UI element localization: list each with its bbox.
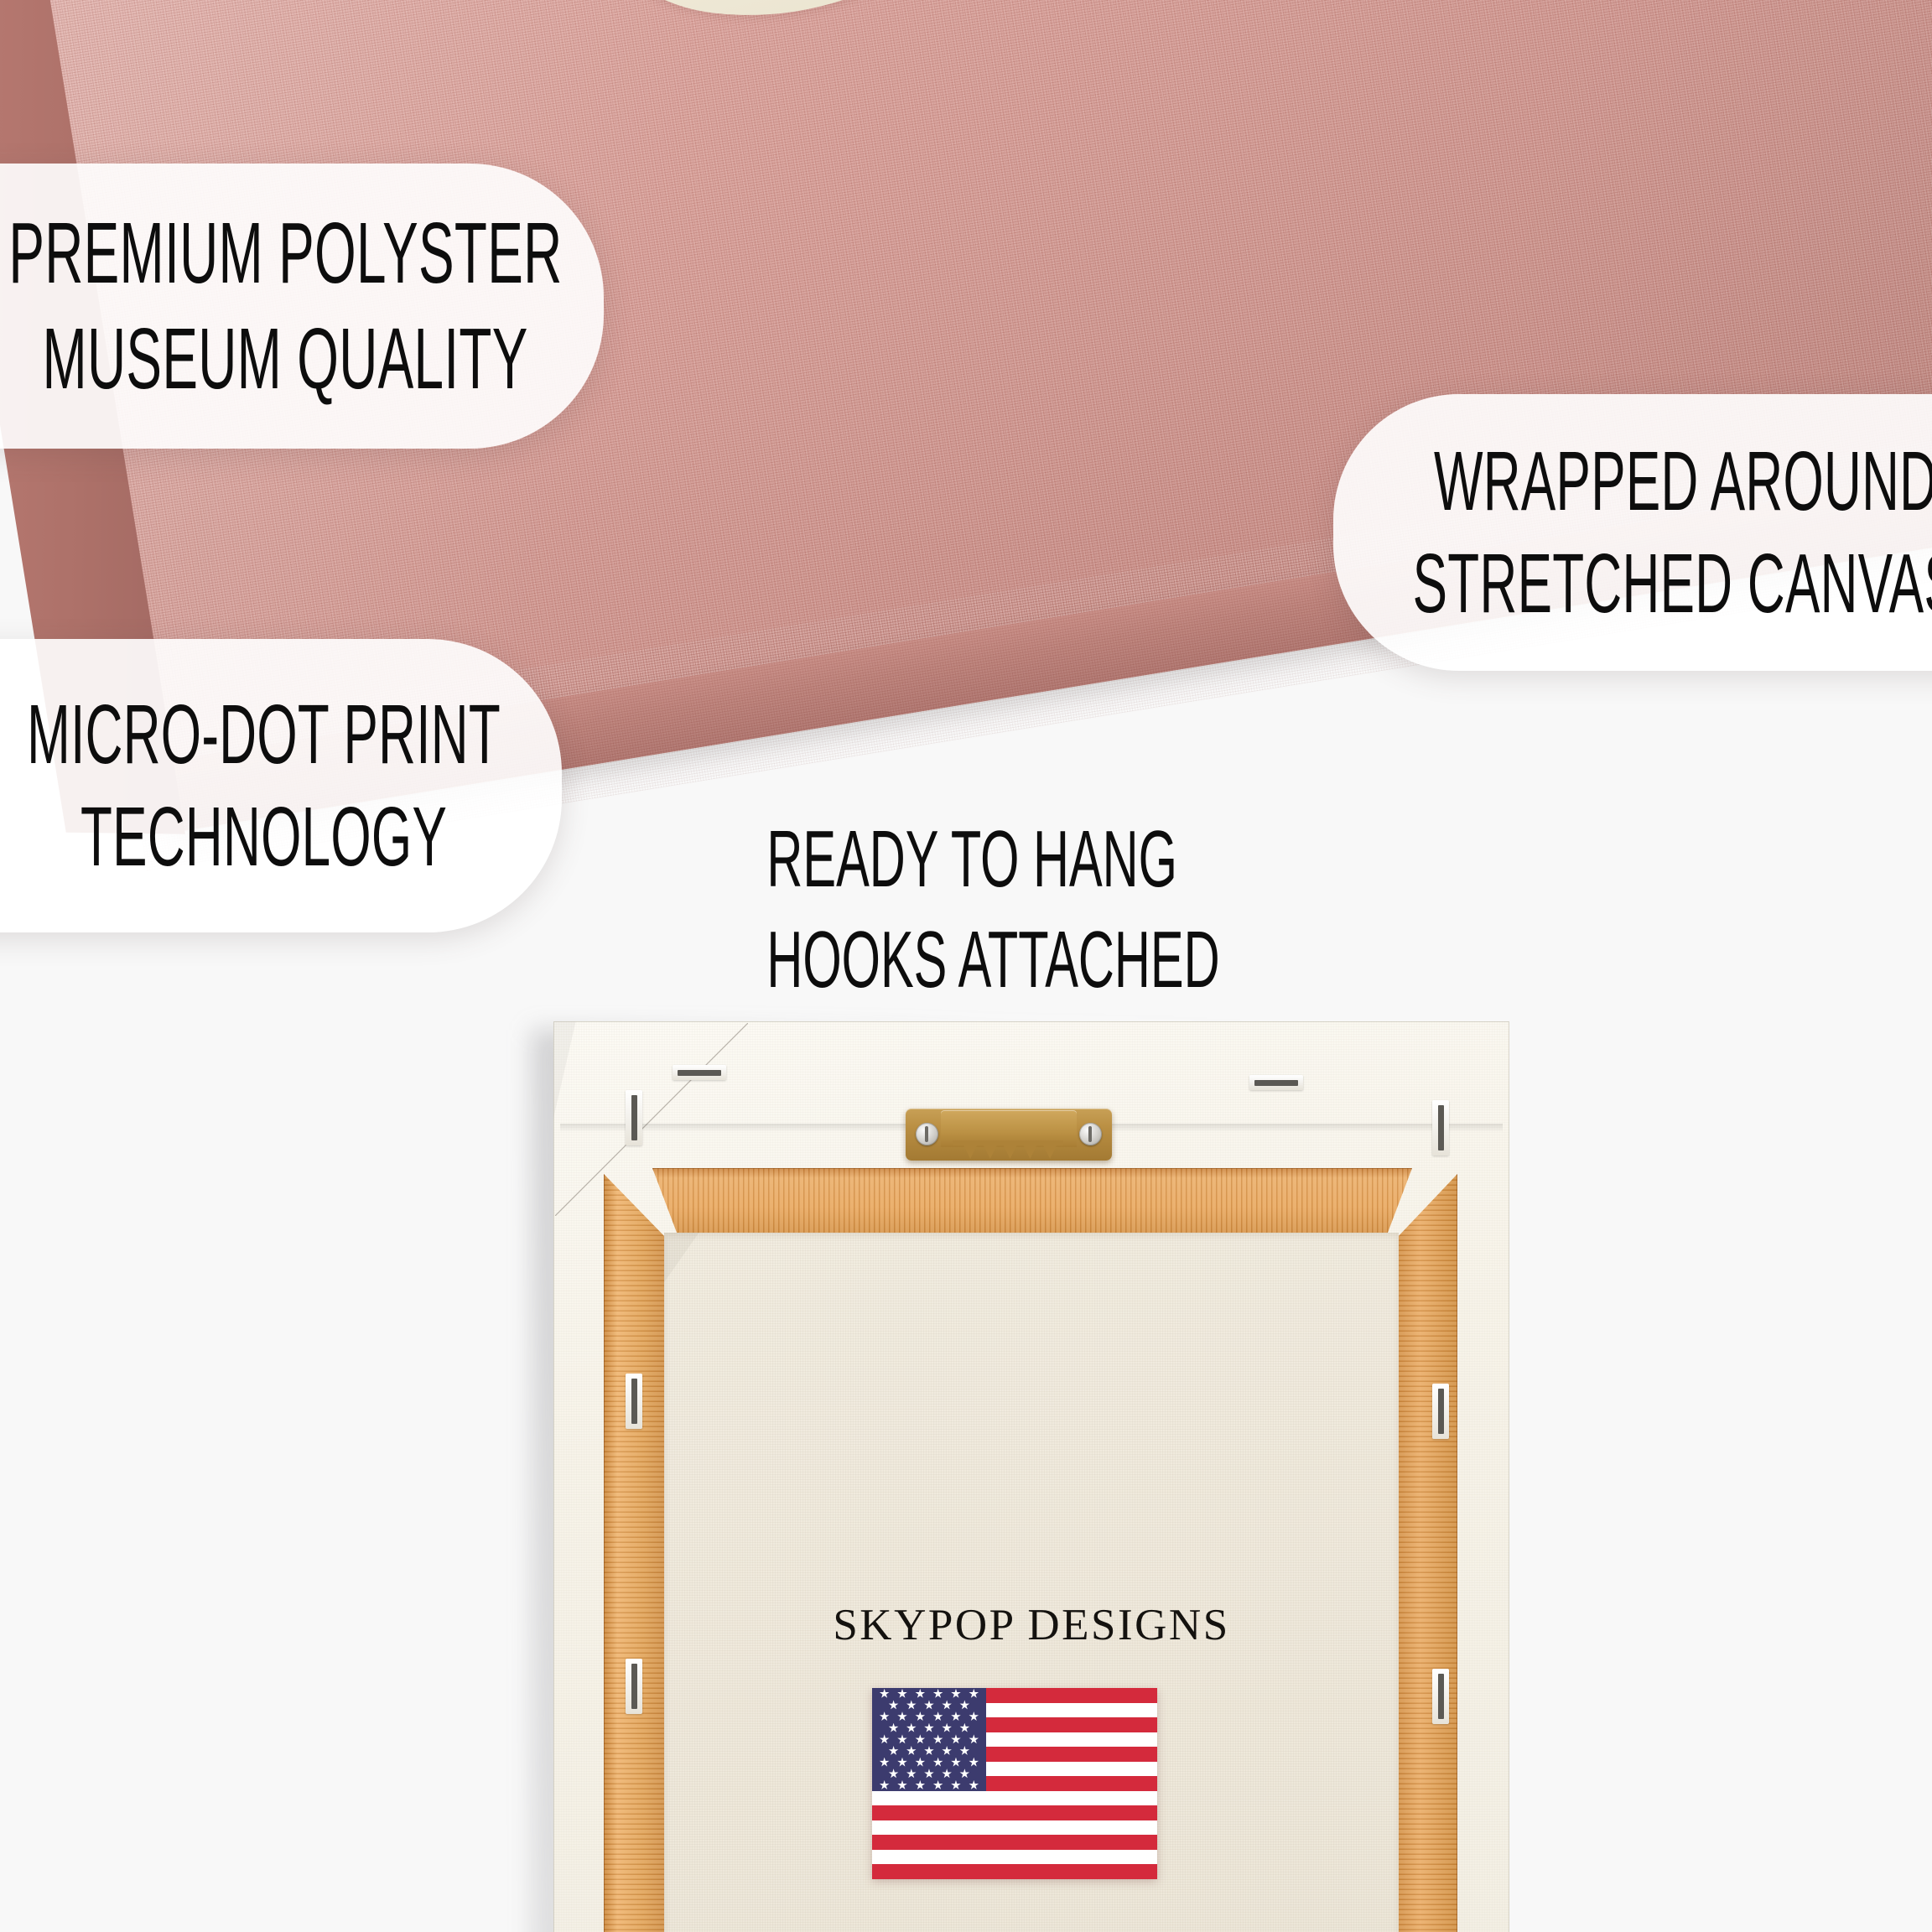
ready-to-hang-heading: READY TO HANG HOOKS ATTACHED xyxy=(646,809,1283,1010)
flag-star-row xyxy=(872,1711,986,1722)
flag-star xyxy=(942,1700,952,1710)
flag-star xyxy=(933,1711,943,1722)
flag-star xyxy=(933,1734,943,1744)
hanger-screw-right xyxy=(1079,1123,1102,1145)
flag-stripe xyxy=(872,1864,1157,1879)
flag-star xyxy=(906,1723,917,1733)
wood-stretcher-bar-top xyxy=(652,1168,1412,1239)
cream-petal-shape xyxy=(1247,0,1831,29)
flag-star xyxy=(897,1758,907,1768)
flag-star xyxy=(959,1768,969,1779)
flag-star xyxy=(897,1780,907,1790)
flag-star xyxy=(951,1780,961,1790)
flag-star-row xyxy=(872,1758,986,1768)
flag-star xyxy=(969,1711,979,1722)
flag-star xyxy=(969,1734,979,1744)
flag-star-row xyxy=(872,1780,986,1790)
sawtooth-hanger xyxy=(906,1109,1112,1161)
staple-top-left xyxy=(673,1065,726,1080)
flag-stripe xyxy=(872,1820,1157,1836)
flag-star xyxy=(889,1768,899,1779)
staple-right-1 xyxy=(1432,1100,1449,1156)
flag-star xyxy=(915,1689,925,1699)
flag-star xyxy=(933,1689,943,1699)
flag-star xyxy=(942,1746,952,1756)
flag-star-row xyxy=(872,1700,986,1710)
badge-line-1: PREMIUM POLYSTER xyxy=(8,200,562,306)
flag-star xyxy=(924,1723,934,1733)
wood-stretcher-bar-left xyxy=(604,1174,666,1932)
hanger-screw-left xyxy=(916,1123,938,1145)
heading-line-1: READY TO HANG xyxy=(766,809,1161,910)
badge-line-2: TECHNOLOGY xyxy=(80,786,447,888)
flag-stripe xyxy=(872,1805,1157,1820)
flag-star xyxy=(915,1711,925,1722)
badge-line-2: STRETCHED CANVAS xyxy=(1412,532,1932,635)
flag-star xyxy=(933,1758,943,1768)
flag-star xyxy=(969,1780,979,1790)
product-infographic: PREMIUM POLYSTER MUSEUM QUALITY MICRO-DO… xyxy=(0,0,1932,1932)
badge-line-1: MICRO-DOT PRINT xyxy=(28,683,501,786)
flag-star xyxy=(951,1758,961,1768)
staple-left-3 xyxy=(626,1659,642,1714)
badge-line-1: WRAPPED AROUND xyxy=(1434,430,1932,532)
flag-star-row xyxy=(872,1746,986,1756)
united-states-flag xyxy=(872,1688,1157,1879)
flag-star xyxy=(906,1768,917,1779)
flag-stripe xyxy=(872,1791,1157,1806)
flag-star xyxy=(915,1734,925,1744)
flag-star-row xyxy=(872,1689,986,1699)
flag-star xyxy=(897,1711,907,1722)
flag-star-row xyxy=(872,1768,986,1779)
flag-star xyxy=(951,1734,961,1744)
flag-star xyxy=(897,1689,907,1699)
flag-star xyxy=(951,1711,961,1722)
flag-star xyxy=(915,1780,925,1790)
flag-star xyxy=(933,1780,943,1790)
flag-star-row xyxy=(872,1723,986,1733)
flag-star xyxy=(924,1746,934,1756)
feature-badge-wrapped-around: WRAPPED AROUND STRETCHED CANVAS xyxy=(1333,394,1932,671)
wood-stretcher-bar-right xyxy=(1397,1174,1457,1932)
flag-star xyxy=(959,1746,969,1756)
canvas-back-view: SKYPOP DESIGNS xyxy=(553,1021,1509,1932)
staple-left-2 xyxy=(626,1374,642,1429)
flag-star xyxy=(880,1758,890,1768)
flag-star xyxy=(924,1700,934,1710)
flag-star xyxy=(959,1700,969,1710)
flag-star xyxy=(969,1689,979,1699)
flag-star xyxy=(942,1723,952,1733)
flag-star xyxy=(924,1768,934,1779)
badge-line-2: MUSEUM QUALITY xyxy=(42,306,527,412)
flag-canton xyxy=(872,1688,986,1791)
staple-right-2 xyxy=(1432,1384,1449,1439)
flag-star xyxy=(906,1746,917,1756)
feature-badge-premium-polyster: PREMIUM POLYSTER MUSEUM QUALITY xyxy=(0,164,604,449)
flag-star xyxy=(897,1734,907,1744)
flag-star xyxy=(880,1711,890,1722)
flag-stripe xyxy=(872,1835,1157,1850)
brand-name: SKYPOP DESIGNS xyxy=(553,1600,1509,1650)
flag-star xyxy=(880,1734,890,1744)
flag-star xyxy=(889,1746,899,1756)
staple-right-3 xyxy=(1432,1669,1449,1724)
heading-line-2: HOOKS ATTACHED xyxy=(766,910,1161,1010)
flag-star xyxy=(959,1723,969,1733)
cream-petal-shape xyxy=(526,0,1047,46)
staple-top-right xyxy=(1249,1075,1303,1090)
flag-star-row xyxy=(872,1734,986,1744)
flag-star xyxy=(906,1700,917,1710)
flag-star xyxy=(942,1768,952,1779)
staple-left-1 xyxy=(626,1090,642,1145)
flag-star xyxy=(969,1758,979,1768)
flag-star xyxy=(889,1700,899,1710)
flag-star xyxy=(880,1689,890,1699)
flag-star xyxy=(889,1723,899,1733)
flag-star xyxy=(915,1758,925,1768)
flag-stripe xyxy=(872,1850,1157,1865)
feature-badge-micro-dot-print: MICRO-DOT PRINT TECHNOLOGY xyxy=(0,639,562,932)
flag-star xyxy=(951,1689,961,1699)
flag-star xyxy=(880,1780,890,1790)
